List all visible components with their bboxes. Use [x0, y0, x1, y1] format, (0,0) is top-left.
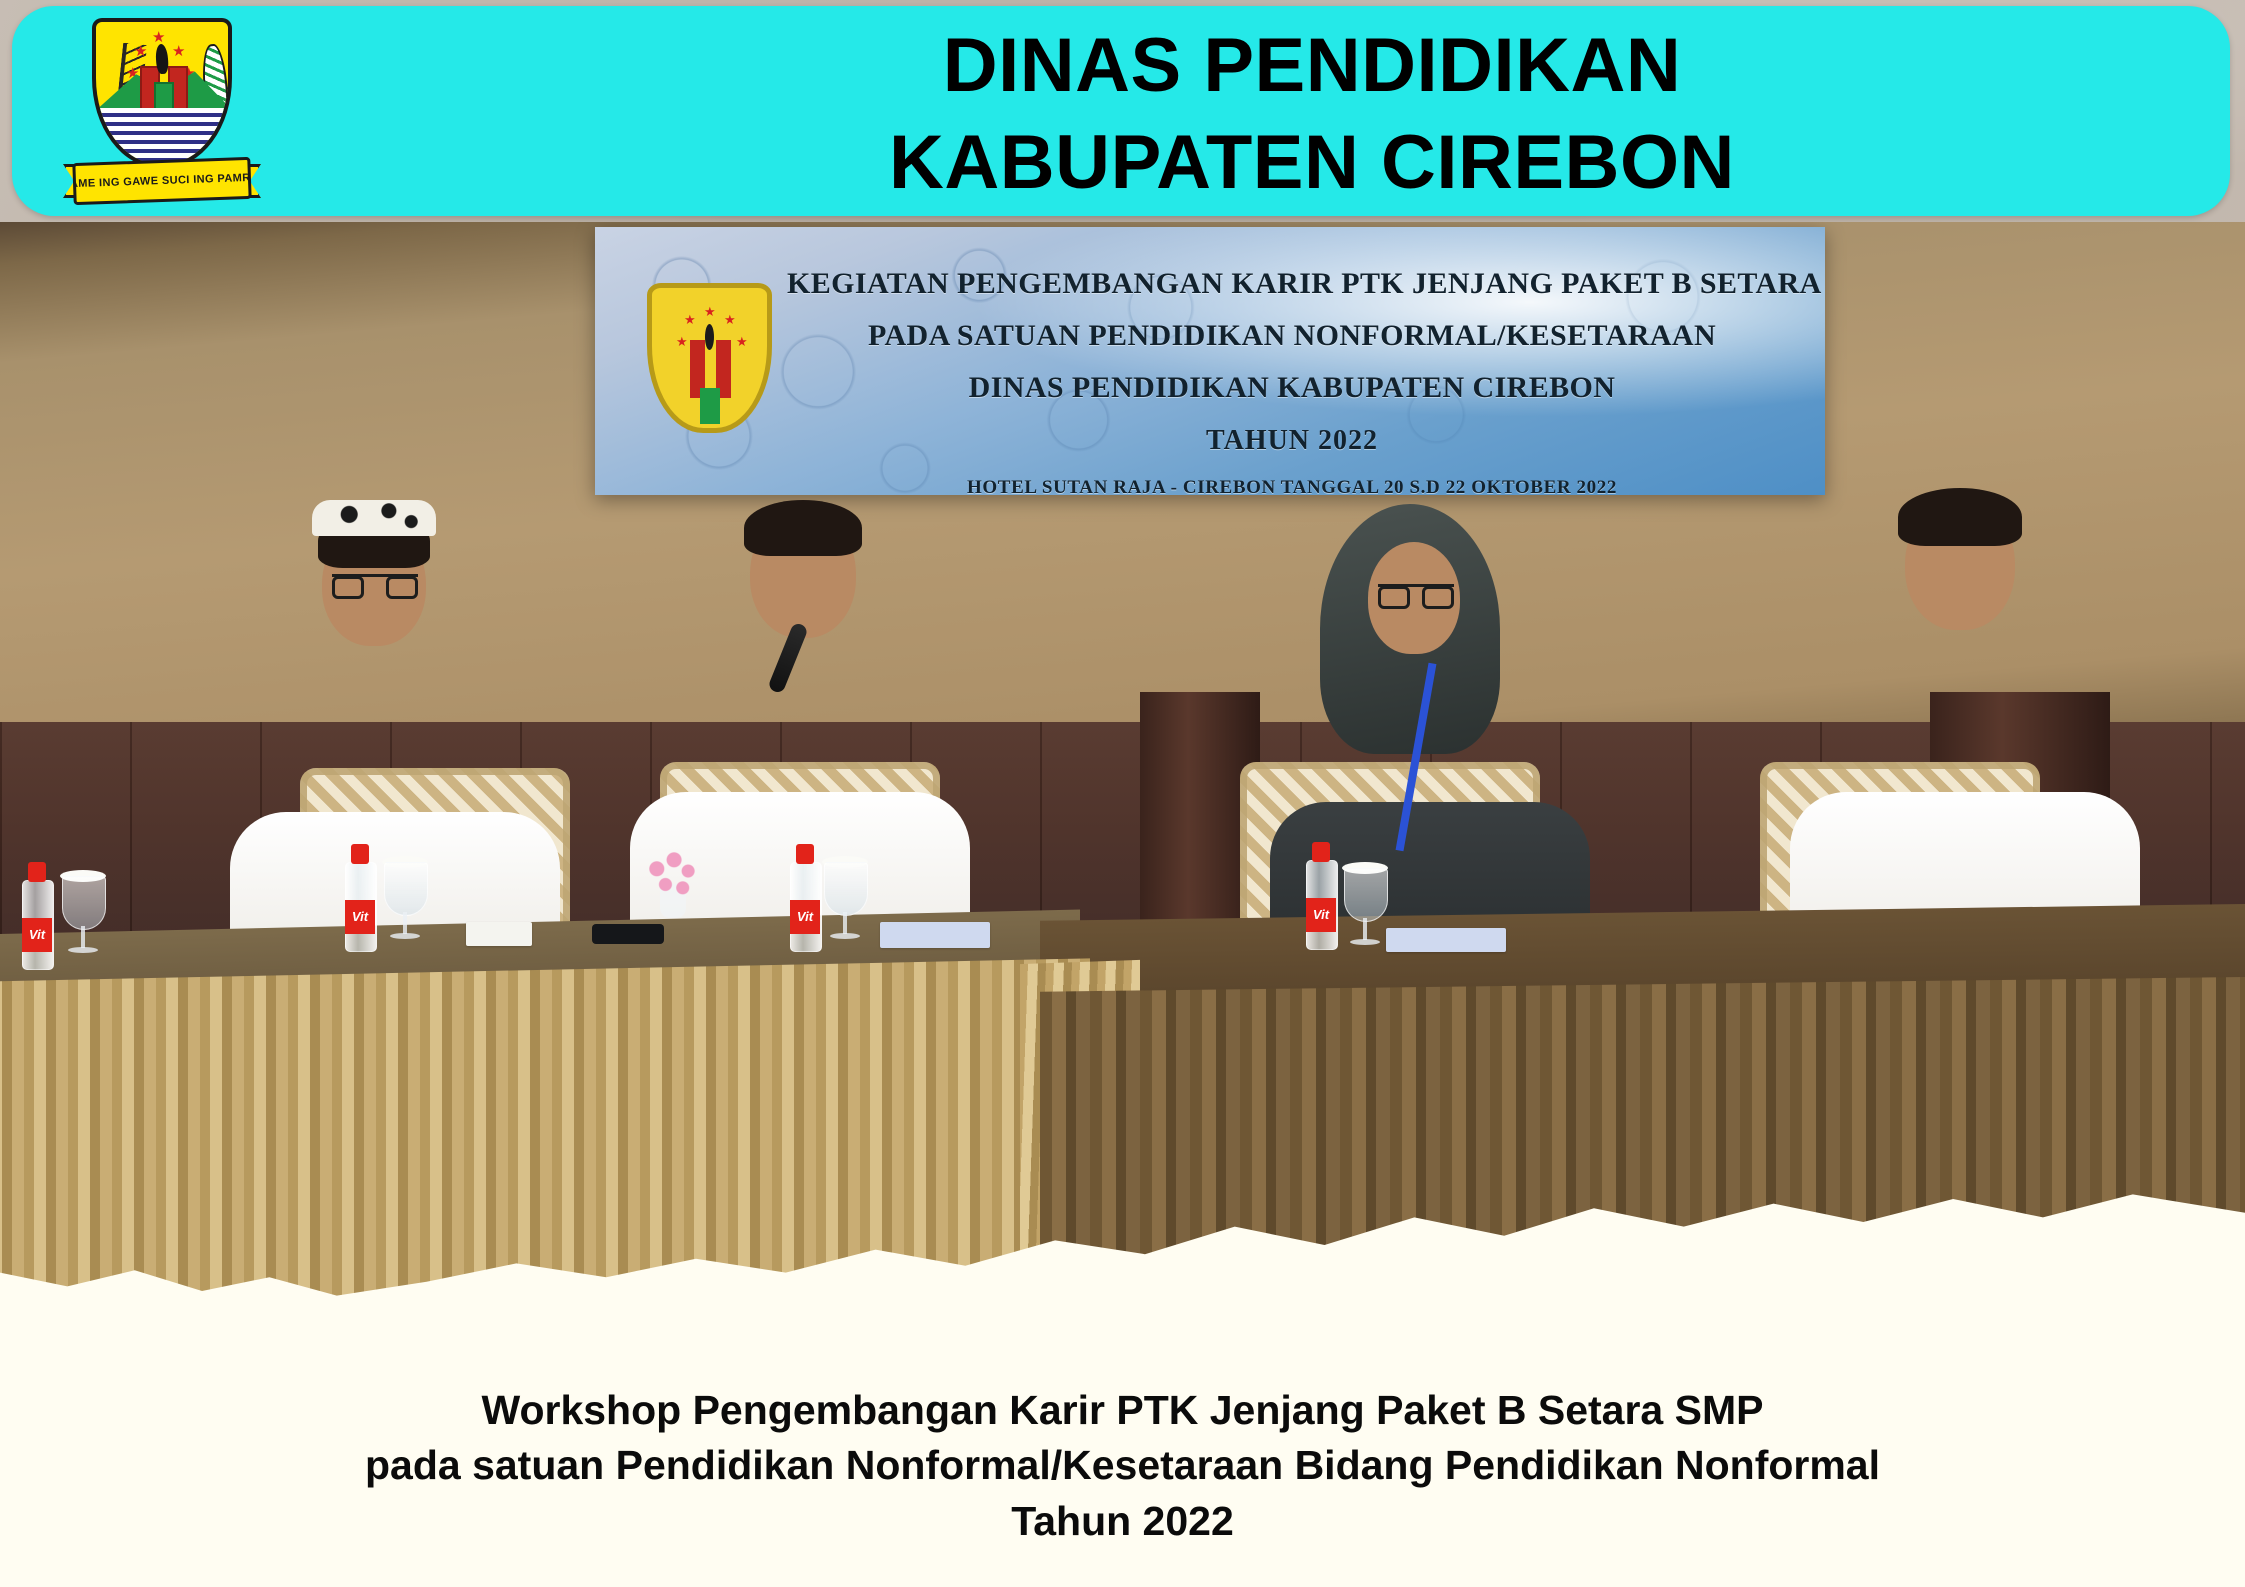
- event-photograph: ★ ★ ★ ★ ★ KEGIATAN PENGEMBANGAN KARIR PT…: [0, 222, 2245, 1337]
- page-title: DINAS PENDIDIKAN KABUPATEN CIREBON: [442, 14, 2182, 214]
- banner-line-3: DINAS PENDIDIKAN KABUPATEN CIREBON: [787, 371, 1797, 405]
- caption-line-2: pada satuan Pendidikan Nonformal/Kesetar…: [365, 1438, 1880, 1493]
- water-glass-1: [62, 864, 104, 956]
- mobile-phone: [592, 924, 664, 944]
- bottle-label-2: Vit: [345, 900, 375, 934]
- banner-line-1: KEGIATAN PENGEMBANGAN KARIR PTK JENJANG …: [787, 267, 1797, 301]
- banner-line-2: PADA SATUAN PENDIDIKAN NONFORMAL/KESETAR…: [787, 319, 1797, 353]
- header-card: ★ ★ ★ ★ ★ ★ ★ RAME ING GAWE SUCI ING PAM…: [12, 6, 2230, 216]
- water-bottle-1: Vit: [22, 862, 52, 970]
- napkin: [466, 922, 532, 946]
- document-blue-1: [880, 922, 990, 948]
- page-title-line-1: DINAS PENDIDIKAN: [943, 17, 1682, 114]
- flower-arrangement: [646, 852, 700, 908]
- event-backdrop-banner: ★ ★ ★ ★ ★ KEGIATAN PENGEMBANGAN KARIR PT…: [595, 227, 1825, 495]
- water-glass-2: [384, 850, 426, 942]
- water-glass-4: [1344, 856, 1386, 948]
- caption-block: Workshop Pengembangan Karir PTK Jenjang …: [0, 1337, 2245, 1587]
- water-bottle-2: Vit: [345, 844, 375, 952]
- water-bottle-3: Vit: [790, 844, 820, 952]
- caption-line-1: Workshop Pengembangan Karir PTK Jenjang …: [482, 1383, 1764, 1438]
- crest-motto: RAME ING GAWE SUCI ING PAMRIH: [72, 171, 251, 190]
- banner-line-4: TAHUN 2022: [787, 425, 1797, 457]
- banner-coat-of-arms-icon: ★ ★ ★ ★ ★: [647, 283, 772, 433]
- caption-line-3: Tahun 2022: [1011, 1494, 1234, 1549]
- header-band: ★ ★ ★ ★ ★ ★ ★ RAME ING GAWE SUCI ING PAM…: [0, 0, 2245, 222]
- bottle-label-4: Vit: [1306, 898, 1336, 932]
- banner-line-5: HOTEL SUTAN RAJA - CIREBON TANGGAL 20 S.…: [787, 477, 1797, 495]
- bottle-label-1: Vit: [22, 918, 52, 952]
- water-glass-3: [824, 850, 866, 942]
- document-blue-2: [1386, 928, 1506, 952]
- cirebon-coat-of-arms-icon: ★ ★ ★ ★ ★ ★ ★ RAME ING GAWE SUCI ING PAM…: [67, 14, 257, 214]
- page-title-line-2: KABUPATEN CIREBON: [889, 114, 1735, 211]
- banner-text-block: KEGIATAN PENGEMBANGAN KARIR PTK JENJANG …: [787, 263, 1797, 483]
- water-bottle-4: Vit: [1306, 842, 1336, 950]
- bottle-label-3: Vit: [790, 900, 820, 934]
